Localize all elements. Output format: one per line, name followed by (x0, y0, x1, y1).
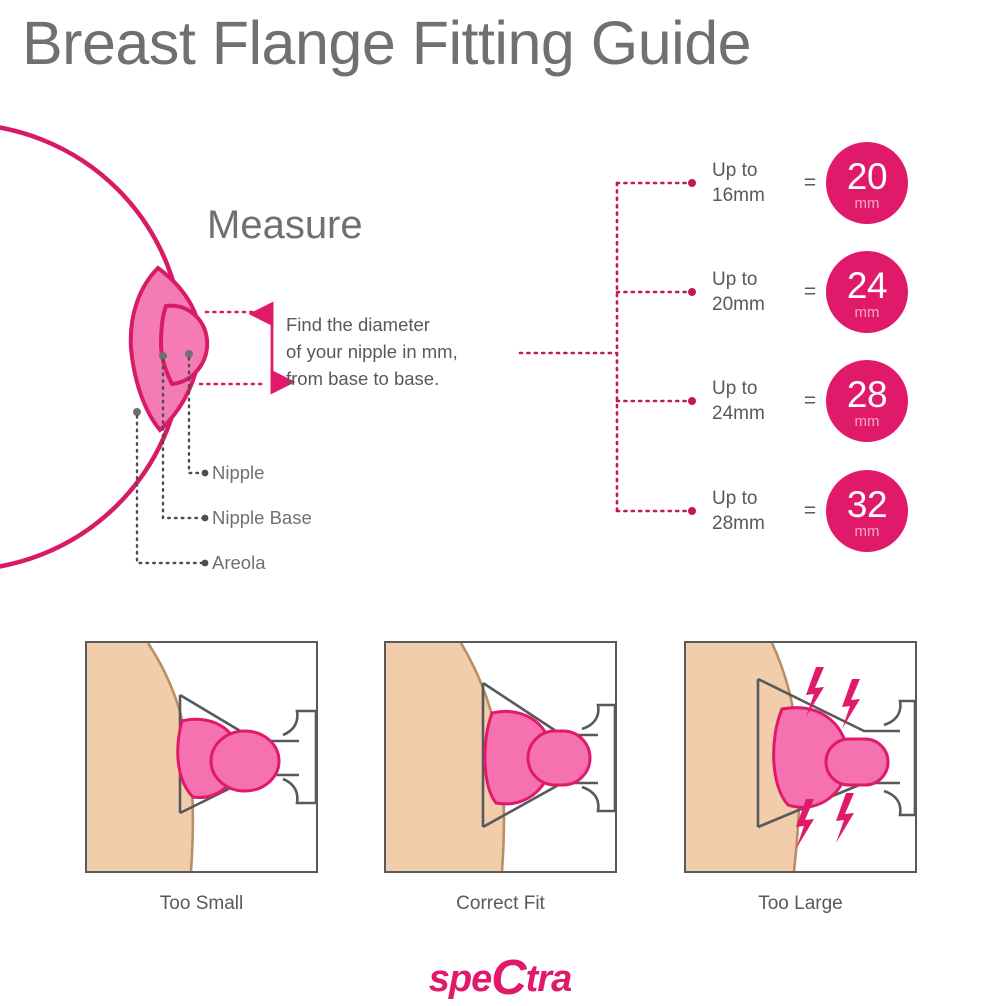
flange-size-unit: mm (855, 196, 880, 211)
flange-size-bubble: 28 mm (826, 360, 908, 442)
flange-size-number: 28 (847, 376, 887, 413)
size-row-24mm: Up to 20mm = 24 mm (712, 251, 908, 333)
logo-text-c: C (491, 951, 525, 1005)
anatomy-label-nipple-base: Nipple Base (212, 507, 312, 529)
logo-text-start: spe (429, 958, 491, 1000)
nipple-base-dot (159, 352, 167, 360)
leader-dot-areola (202, 560, 209, 567)
fit-panel-too-large (684, 641, 917, 873)
page-title: Breast Flange Fitting Guide (22, 8, 992, 78)
size-range-label: Up to 20mm (712, 267, 794, 317)
leader-nipple-base (163, 360, 205, 518)
bracket-dot-3 (688, 397, 696, 405)
leader-dot-nipple-base (202, 515, 209, 522)
spectra-logo: speCtra (0, 950, 1000, 1006)
breast-outline (0, 124, 183, 570)
bracket-dot-1 (688, 179, 696, 187)
flange-size-number: 24 (847, 267, 887, 304)
flange-size-unit: mm (855, 305, 880, 320)
leader-dot-nipple (202, 470, 209, 477)
flange-size-unit: mm (855, 524, 880, 539)
leader-areola (137, 416, 205, 563)
flange-size-number: 32 (847, 486, 887, 523)
fit-panel-correct-fit (384, 641, 617, 873)
size-row-32mm: Up to 28mm = 32 mm (712, 470, 908, 552)
flange-size-bubble: 20 mm (826, 142, 908, 224)
bracket-dot-4 (688, 507, 696, 515)
size-range-label: Up to 24mm (712, 376, 794, 426)
size-range-label: Up to 16mm (712, 158, 794, 208)
nipple-dot (185, 350, 193, 358)
size-row-28mm: Up to 24mm = 28 mm (712, 360, 908, 442)
measure-instruction: Find the diameter of your nipple in mm, … (286, 311, 458, 392)
leader-nipple (189, 358, 205, 473)
anatomy-label-areola: Areola (212, 552, 265, 574)
flange-size-bubble: 32 mm (826, 470, 908, 552)
size-range-label: Up to 28mm (712, 486, 794, 536)
fit-panel-label-too-large: Too Large (684, 893, 917, 915)
fit-panel-too-small (85, 641, 318, 873)
fit-panel-label-too-small: Too Small (85, 893, 318, 915)
anatomy-label-nipple: Nipple (212, 462, 264, 484)
equals-sign: = (794, 389, 826, 413)
equals-sign: = (794, 280, 826, 304)
fit-panel-label-correct-fit: Correct Fit (384, 893, 617, 915)
flange-size-unit: mm (855, 414, 880, 429)
areola-shape (131, 268, 201, 430)
nipple-shape (161, 306, 207, 384)
flange-size-bubble: 24 mm (826, 251, 908, 333)
measure-heading: Measure (207, 203, 363, 248)
equals-sign: = (794, 499, 826, 523)
equals-sign: = (794, 171, 826, 195)
areola-dot (133, 408, 141, 416)
logo-text-end: tra (526, 958, 572, 1000)
bracket-dot-2 (688, 288, 696, 296)
size-row-20mm: Up to 16mm = 20 mm (712, 142, 908, 224)
flange-size-number: 20 (847, 158, 887, 195)
